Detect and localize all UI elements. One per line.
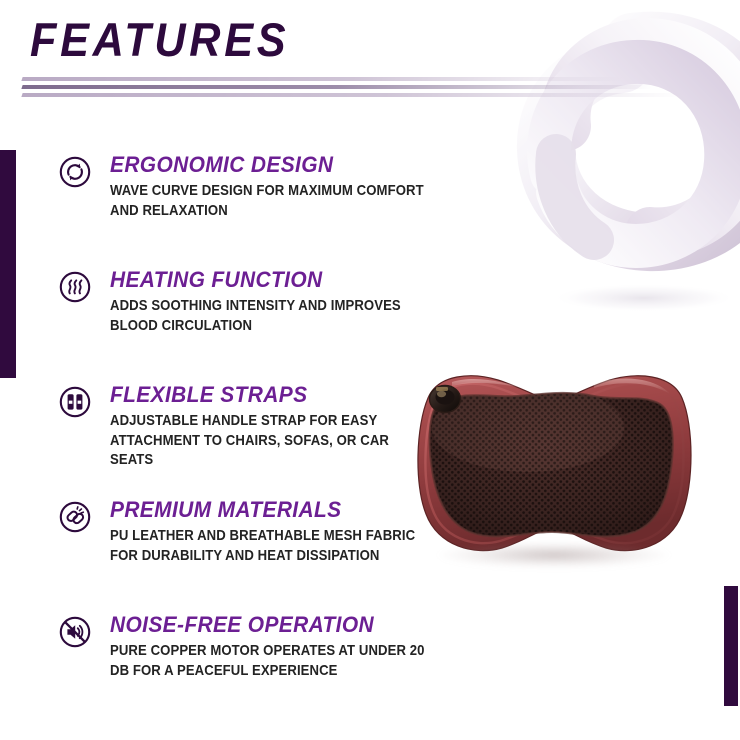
straps-buckle-icon: [58, 385, 92, 419]
feature-list-page: FEATURES ERGONOMIC DESIGN WAVE CURVE DES…: [0, 0, 740, 740]
page-header: FEATURES: [30, 14, 670, 66]
feature-item-ergonomic-design: ERGONOMIC DESIGN WAVE CURVE DESIGN FOR M…: [58, 152, 468, 244]
feature-title: HEATING FUNCTION: [110, 267, 443, 292]
broken-chain-link-icon: [58, 500, 92, 534]
feature-title: ERGONOMIC DESIGN: [110, 152, 443, 177]
title-rule-1: [21, 77, 622, 81]
product-shadow: [438, 542, 670, 568]
feature-description: PURE COPPER MOTOR OPERATES AT UNDER 20 D…: [110, 642, 432, 681]
feature-item-heating-function: HEATING FUNCTION ADDS SOOTHING INTENSITY…: [58, 267, 468, 359]
rotate-arrows-icon: [58, 155, 92, 189]
title-rule-3: [21, 93, 682, 97]
feature-title: PREMIUM MATERIALS: [110, 497, 443, 522]
title-rule-2: [21, 85, 652, 89]
feature-description: ADJUSTABLE HANDLE STRAP FOR EASY ATTACHM…: [110, 412, 432, 471]
product-image-massage-pillow: [398, 356, 710, 586]
heat-waves-icon: [58, 270, 92, 304]
muted-speaker-icon: [58, 615, 92, 649]
feature-description: ADDS SOOTHING INTENSITY AND IMPROVES BLO…: [110, 297, 432, 336]
feature-item-noise-free-operation: NOISE-FREE OPERATION PURE COPPER MOTOR O…: [58, 612, 468, 704]
page-title: FEATURES: [30, 14, 619, 66]
feature-description: WAVE CURVE DESIGN FOR MAXIMUM COMFORT AN…: [110, 182, 432, 221]
feature-title: NOISE-FREE OPERATION: [110, 612, 443, 637]
feature-description: PU LEATHER AND BREATHABLE MESH FABRIC FO…: [110, 527, 432, 566]
feature-title: FLEXIBLE STRAPS: [110, 382, 443, 407]
vertical-accent-bar-left: [0, 150, 16, 378]
vertical-accent-bar-right: [724, 586, 738, 706]
title-underline-rules: [22, 73, 682, 103]
